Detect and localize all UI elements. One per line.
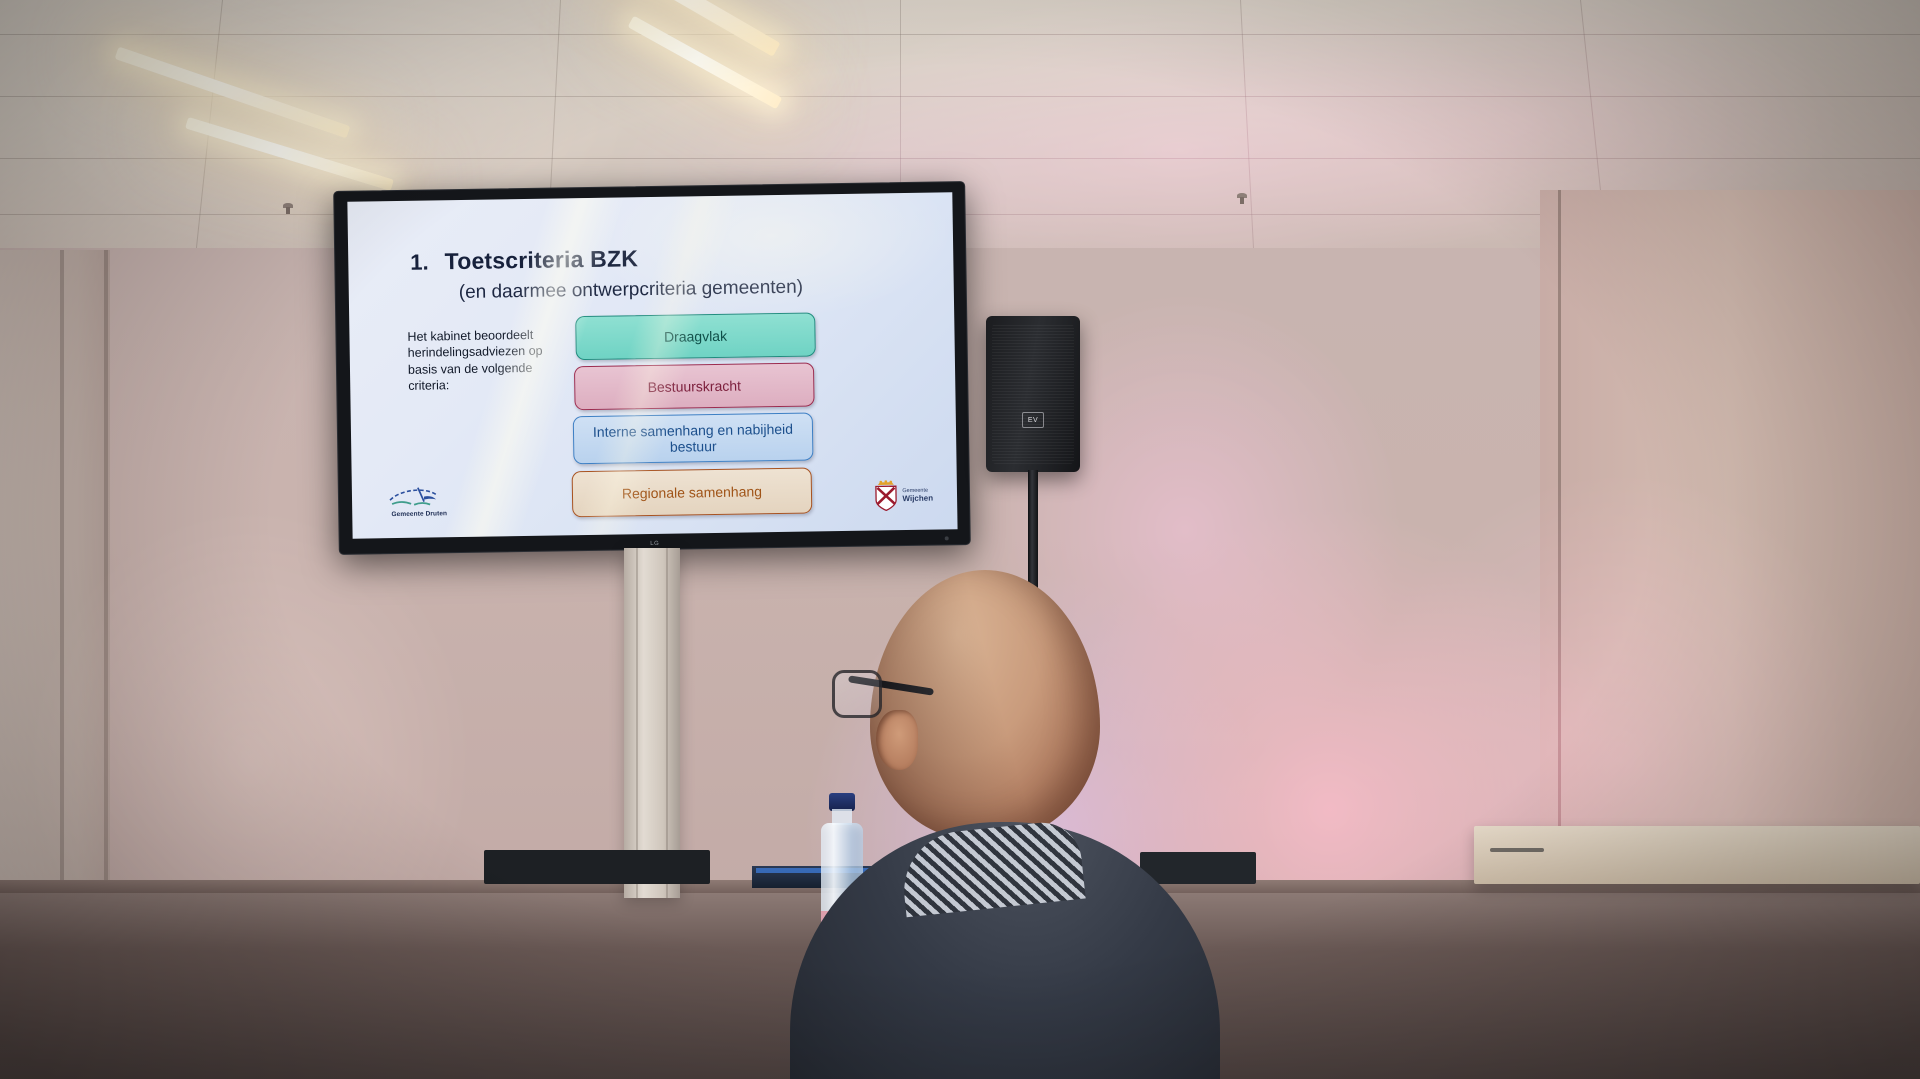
druten-logo-caption: Gemeente Druten: [380, 510, 458, 518]
wijchen-logo-text: Gemeente Wijchen: [902, 489, 933, 503]
wall-mounted-tv: 1. Toetscriteria BZK (en daarmee ontwerp…: [333, 181, 971, 555]
criterion-box-regionale-samenhang: Regionale samenhang: [572, 468, 813, 518]
criterion-label: Interne samenhang en nabijheid bestuur: [574, 420, 812, 456]
wijchen-logo-line2: Wijchen: [902, 494, 933, 502]
tv-stand-column: [624, 548, 680, 898]
equipment-box-left: [484, 850, 710, 884]
tv-screen: 1. Toetscriteria BZK (en daarmee ontwerp…: [347, 192, 957, 538]
wall-jamb: [104, 250, 108, 890]
wijchen-crest-icon: [873, 480, 899, 512]
criterion-label: Regionale samenhang: [616, 483, 768, 501]
speaker-grille: [992, 324, 1074, 464]
person-head-shading: [870, 570, 1100, 840]
wall-corner-edge: [1558, 190, 1561, 890]
side-table: [1474, 826, 1920, 884]
slide-title-row: 1. Toetscriteria BZK: [410, 245, 638, 276]
criterion-box-interne-samenhang: Interne samenhang en nabijheid bestuur: [573, 412, 814, 464]
sprinkler-head-icon: [1234, 193, 1250, 205]
criterion-box-bestuurskracht: Bestuurskracht: [574, 362, 815, 410]
conference-room-photo: 1. Toetscriteria BZK (en daarmee ontwerp…: [0, 0, 1920, 1079]
tv-brand-label: LG: [650, 541, 659, 547]
pen-on-table: [1490, 848, 1544, 852]
slide-number: 1.: [410, 249, 429, 275]
criterion-label: Draagvlak: [658, 328, 733, 345]
slide-lead-text: Het kabinet beoordeelt herindelingsadvie…: [407, 326, 568, 394]
tv-power-led: [945, 536, 949, 540]
stand-seam: [666, 548, 668, 898]
slide-subtitle: (en daarmee ontwerpcriteria gemeenten): [459, 277, 804, 304]
slide-title: Toetscriteria BZK: [444, 245, 638, 275]
druten-bridge-icon: [384, 483, 454, 510]
gemeente-wijchen-logo: Gemeente Wijchen: [873, 480, 933, 513]
pa-speaker: EV: [986, 316, 1080, 472]
gemeente-druten-logo: Gemeente Druten: [380, 483, 459, 518]
left-wall-panel: [0, 250, 110, 890]
seated-attendee: [830, 560, 1190, 1079]
glasses-lens: [832, 670, 882, 718]
criteria-list: Draagvlak Bestuurskracht Interne samenha…: [571, 312, 820, 517]
sprinkler-head-icon: [280, 203, 296, 215]
wall-jamb: [60, 250, 64, 890]
presentation-slide: 1. Toetscriteria BZK (en daarmee ontwerp…: [347, 192, 957, 538]
criterion-label: Bestuurskracht: [641, 377, 747, 395]
stand-seam: [636, 548, 638, 898]
speaker-brand-badge: EV: [1022, 412, 1044, 428]
criterion-box-draagvlak: Draagvlak: [575, 312, 816, 360]
person-ear: [876, 710, 918, 770]
